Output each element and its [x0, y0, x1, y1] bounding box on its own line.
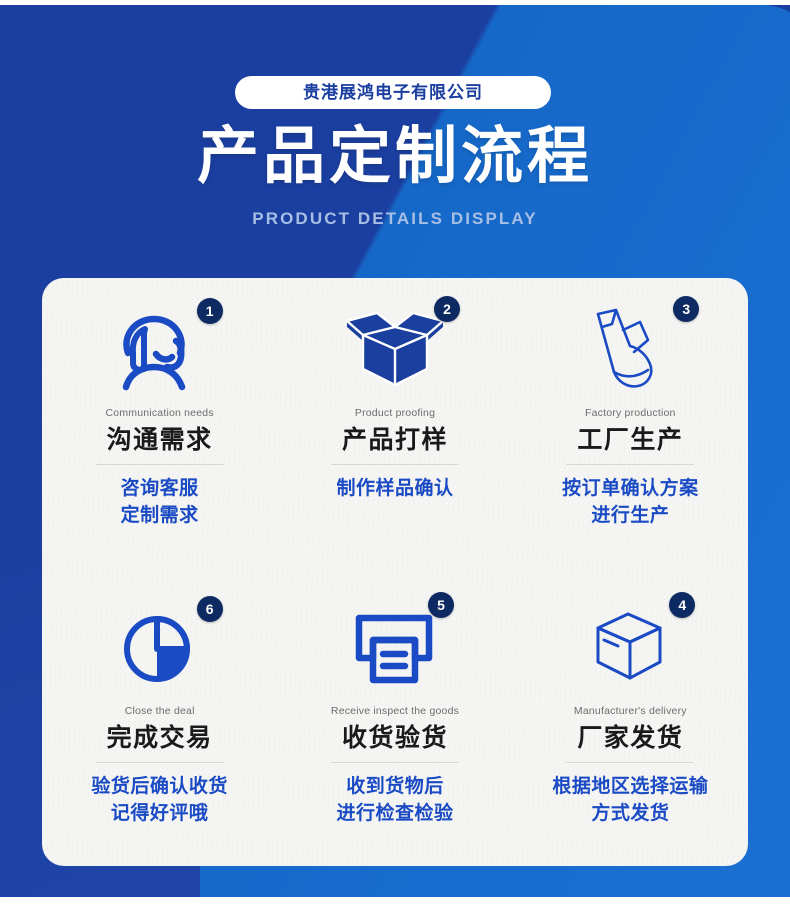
step-1-badge: 1 — [197, 298, 223, 324]
step-2-divider — [331, 464, 459, 465]
step-5-divider — [331, 762, 459, 763]
step-4-desc: 根据地区选择运输 方式发货 — [552, 773, 708, 828]
company-name-pill: 贵港展鸿电子有限公司 — [235, 76, 551, 109]
step-4-en-label: Manufacturer's delivery — [574, 706, 687, 717]
steps-grid: 1 Communication needs 沟通需求 咨询客服 定制需求 — [42, 278, 748, 866]
delivery-box-3d-icon — [590, 608, 670, 688]
step-6-badge: 6 — [197, 596, 223, 622]
step-3-divider — [566, 464, 694, 465]
step-2-en-label: Product proofing — [355, 408, 435, 419]
pie-chart-icon — [121, 609, 199, 687]
step-5-cn-title: 收货验货 — [342, 723, 448, 754]
company-name-text: 贵港展鸿电子有限公司 — [303, 84, 483, 101]
printer-document-icon — [353, 610, 437, 686]
step-card-2[interactable]: 2 Product proofing 产品打样 制作样品确认 — [277, 278, 512, 572]
page-title: 产品定制流程 — [0, 124, 790, 189]
step-1-icon-wrap: 1 — [85, 296, 235, 404]
step-6-divider — [96, 762, 224, 763]
step-4-cn-title: 厂家发货 — [577, 723, 683, 754]
open-box-icon — [345, 311, 445, 389]
step-1-en-label: Communication needs — [106, 408, 214, 419]
step-6-cn-title: 完成交易 — [107, 723, 213, 754]
step-3-icon-wrap: 3 — [555, 296, 705, 404]
step-6-desc: 验货后确认收货 记得好评哦 — [91, 773, 228, 828]
page-subtitle: PRODUCT DETAILS DISPLAY — [0, 210, 790, 227]
step-2-cn-title: 产品打样 — [342, 425, 448, 456]
page-root: 贵港展鸿电子有限公司 产品定制流程 PRODUCT DETAILS DISPLA… — [0, 0, 790, 915]
step-5-desc: 收到货物后 进行检查检验 — [336, 773, 453, 828]
step-card-5[interactable]: 5 Receive inspect the goods 收货验货 收到货物后 进… — [277, 572, 512, 866]
step-3-desc: 按订单确认方案 进行生产 — [562, 475, 699, 530]
step-4-icon-wrap: 4 — [555, 594, 705, 702]
step-2-badge: 2 — [434, 296, 460, 322]
step-4-badge: 4 — [669, 592, 695, 618]
step-2-desc: 制作样品确认 — [336, 475, 453, 503]
step-1-cn-title: 沟通需求 — [107, 425, 213, 456]
step-card-3[interactable]: 3 Factory production 工厂生产 按订单确认方案 进行生产 — [513, 278, 748, 572]
step-1-divider — [96, 464, 224, 465]
step-3-en-label: Factory production — [585, 408, 676, 419]
sock-garment-icon — [590, 308, 670, 392]
step-card-1[interactable]: 1 Communication needs 沟通需求 咨询客服 定制需求 — [42, 278, 277, 572]
step-4-divider — [566, 762, 694, 763]
step-card-6[interactable]: 6 Close the deal 完成交易 验货后确认收货 记得好评哦 — [42, 572, 277, 866]
step-3-badge: 3 — [673, 296, 699, 322]
step-2-icon-wrap: 2 — [320, 296, 470, 404]
headset-support-icon — [114, 309, 206, 391]
step-5-badge: 5 — [428, 592, 454, 618]
step-card-4[interactable]: 4 Manufacturer's delivery 厂家发货 根据地区选择运输 … — [513, 572, 748, 866]
step-5-icon-wrap: 5 — [320, 594, 470, 702]
step-3-cn-title: 工厂生产 — [577, 425, 683, 456]
step-5-en-label: Receive inspect the goods — [331, 706, 459, 717]
step-6-icon-wrap: 6 — [85, 594, 235, 702]
step-1-desc: 咨询客服 定制需求 — [121, 475, 199, 530]
step-6-en-label: Close the deal — [125, 706, 195, 717]
